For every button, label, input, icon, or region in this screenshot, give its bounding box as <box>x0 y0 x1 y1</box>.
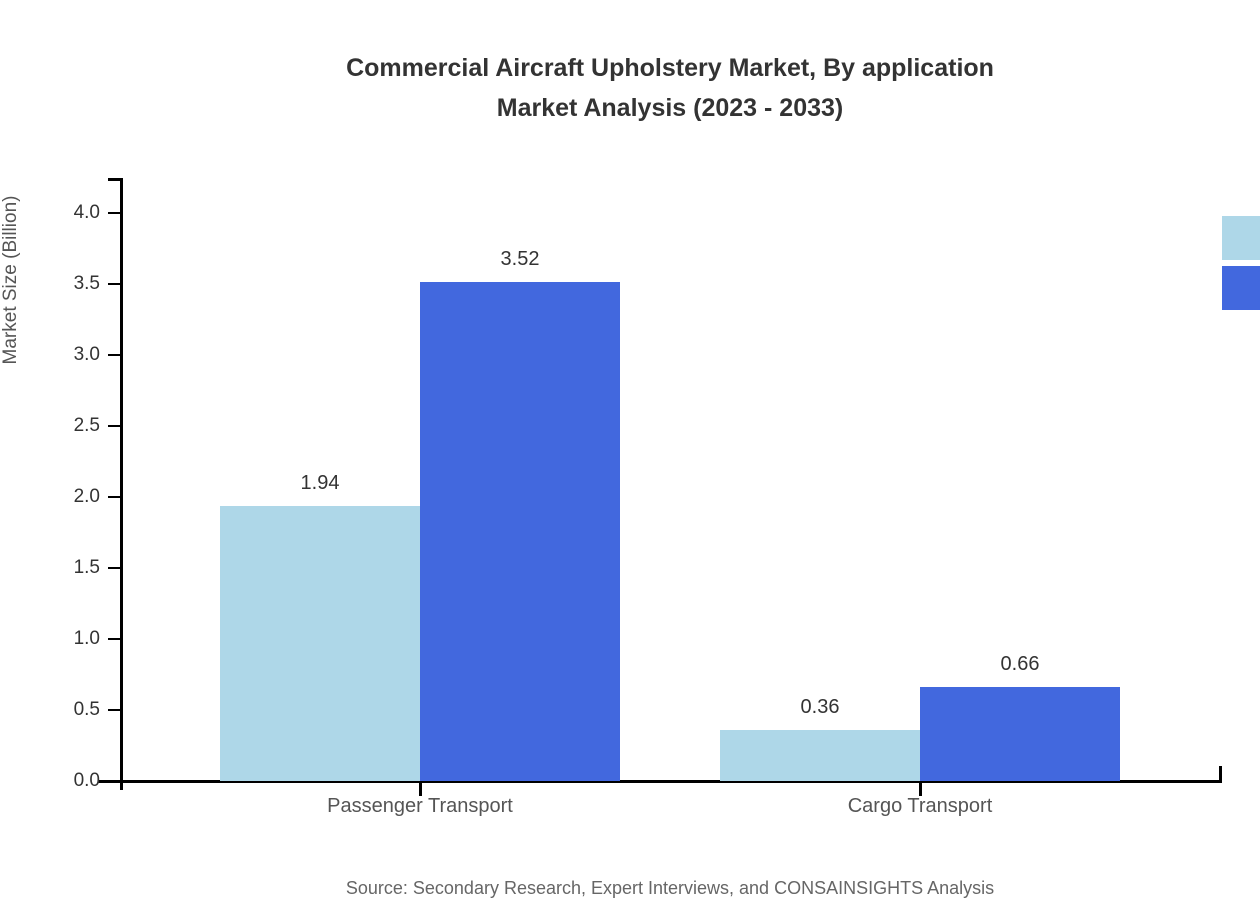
bar[interactable] <box>920 687 1120 781</box>
y-tick-mark <box>108 283 121 285</box>
bar[interactable] <box>720 730 920 781</box>
bar-value-label: 3.52 <box>420 249 620 269</box>
legend-color-swatch <box>1222 266 1260 310</box>
bar-value-label: 0.36 <box>720 697 920 717</box>
y-tick-mark <box>108 212 121 214</box>
bar-value-label: 1.94 <box>220 473 420 493</box>
legend-item[interactable]: 2033 <box>1070 266 1260 310</box>
y-tick-mark <box>108 709 121 711</box>
bar-chart-figure: Commercial Aircraft Upholstery Market, B… <box>0 0 1260 920</box>
y-tick-mark <box>108 638 121 640</box>
y-tick-label: 0.5 <box>0 700 100 719</box>
x-axis-right-cap <box>1219 766 1222 783</box>
y-axis-line <box>120 178 123 790</box>
y-tick-label: 1.0 <box>0 629 100 648</box>
chart-title-line-1: Commercial Aircraft Upholstery Market, B… <box>346 54 994 82</box>
legend-color-swatch <box>1222 216 1260 260</box>
y-axis-top-cap <box>108 178 123 181</box>
y-tick-mark <box>108 780 121 782</box>
y-tick-mark <box>108 496 121 498</box>
y-tick-mark <box>108 567 121 569</box>
y-tick-label: 3.0 <box>0 345 100 364</box>
y-tick-label: 3.5 <box>0 274 100 293</box>
y-tick-label: 4.0 <box>0 203 100 222</box>
source-note: Source: Secondary Research, Expert Inter… <box>0 878 1260 899</box>
x-tick-label: Cargo Transport <box>720 795 1120 818</box>
y-tick-mark <box>108 425 121 427</box>
bar-value-label: 0.66 <box>920 654 1120 674</box>
legend-item[interactable]: 2023 <box>1070 216 1260 260</box>
chart-title-line-2: Market Analysis (2023 - 2033) <box>497 94 843 122</box>
bar[interactable] <box>420 282 620 781</box>
y-tick-label: 2.5 <box>0 416 100 435</box>
y-tick-label: 0.0 <box>0 771 100 790</box>
y-tick-mark <box>108 354 121 356</box>
x-tick-label: Passenger Transport <box>220 795 620 818</box>
y-tick-label: 1.5 <box>0 558 100 577</box>
y-tick-label: 2.0 <box>0 487 100 506</box>
bar[interactable] <box>220 506 420 781</box>
chart-title: Commercial Aircraft Upholstery Market, B… <box>0 48 1260 128</box>
